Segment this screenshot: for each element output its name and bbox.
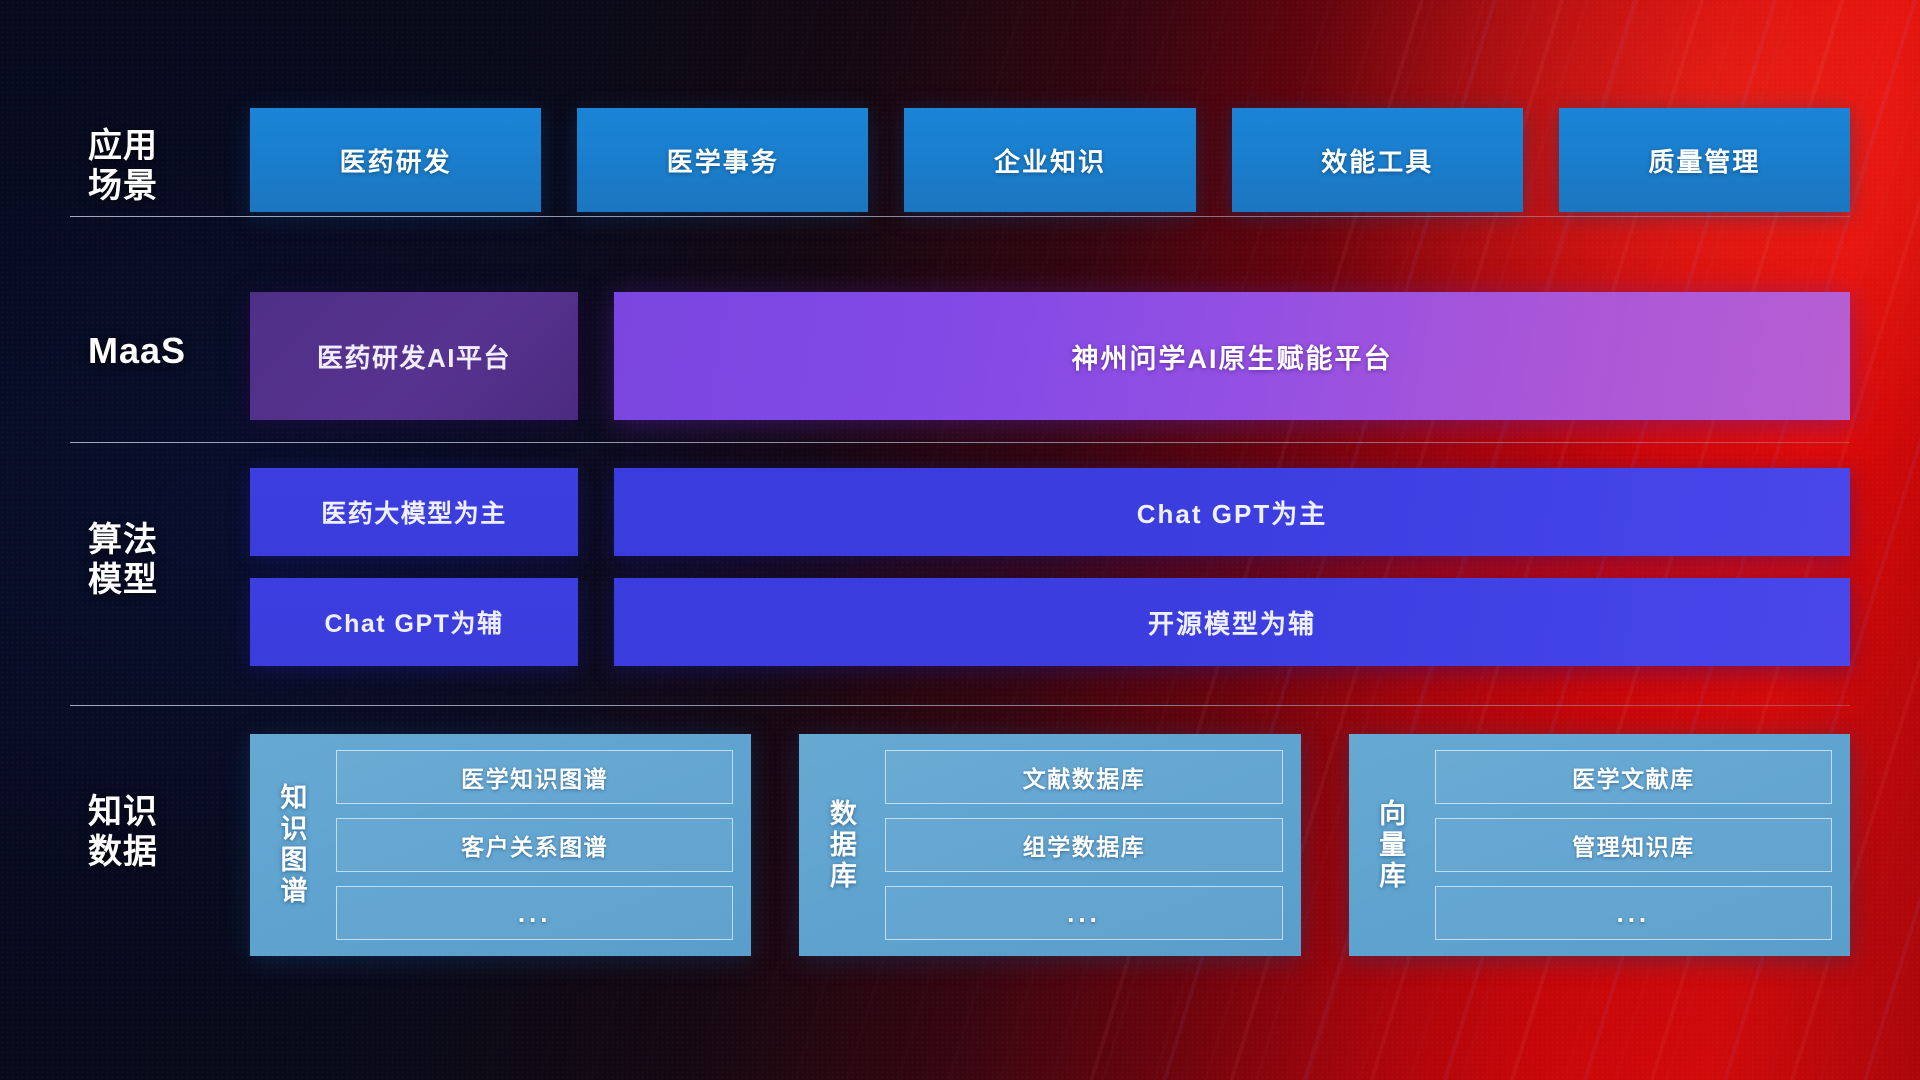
row-label-application-line2: 场景 (88, 166, 238, 206)
knowledge-item-list: 医学文献库 管理知识库 ... (1435, 750, 1832, 940)
algo-card-chatgpt-primary[interactable]: Chat GPT为主 (614, 468, 1850, 556)
divider-application-maas (70, 216, 1850, 217)
knowledge-item-label: 客户关系图谱 (461, 828, 608, 862)
row-label-application: 应用 场景 (88, 126, 238, 206)
knowledge-group-database[interactable]: 数据库 文献数据库 组学数据库 ... (799, 734, 1300, 956)
maas-card-label: 医药研发AI平台 (317, 338, 511, 375)
algorithm-card-track: 医药大模型为主 Chat GPT为主 Chat GPT为辅 开源模型为辅 (250, 468, 1850, 666)
app-card-enterprise-knowledge[interactable]: 企业知识 (904, 108, 1195, 212)
divider-algorithm-knowledge (70, 705, 1850, 706)
app-card-label: 质量管理 (1648, 142, 1760, 179)
knowledge-item-list: 文献数据库 组学数据库 ... (885, 750, 1282, 940)
maas-card-label: 神州问学AI原生赋能平台 (1072, 337, 1393, 376)
row-label-maas: MaaS (88, 330, 238, 372)
knowledge-group-vector-store[interactable]: 向量库 医学文献库 管理知识库 ... (1349, 734, 1850, 956)
app-card-medical-affairs[interactable]: 医学事务 (577, 108, 868, 212)
knowledge-item-medical-literature-store[interactable]: 医学文献库 (1435, 750, 1832, 804)
algo-card-label: Chat GPT为主 (1137, 494, 1327, 531)
knowledge-group-vertical-label: 向量库 (1363, 750, 1417, 940)
app-card-label: 企业知识 (994, 142, 1106, 179)
knowledge-item-omics-database[interactable]: 组学数据库 (885, 818, 1282, 872)
row-label-knowledge-line2: 数据 (88, 832, 238, 872)
knowledge-item-management-knowledge-store[interactable]: 管理知识库 (1435, 818, 1832, 872)
app-card-label: 效能工具 (1321, 142, 1433, 179)
knowledge-item-list: 医学知识图谱 客户关系图谱 ... (336, 750, 733, 940)
app-card-label: 医学事务 (667, 142, 779, 179)
app-card-medicine-rd[interactable]: 医药研发 (250, 108, 541, 212)
knowledge-item-more[interactable]: ... (885, 886, 1282, 940)
knowledge-item-medical-knowledge-graph[interactable]: 医学知识图谱 (336, 750, 733, 804)
knowledge-item-more[interactable]: ... (1435, 886, 1832, 940)
app-card-efficiency-tools[interactable]: 效能工具 (1232, 108, 1523, 212)
algo-card-medicine-llm-primary[interactable]: 医药大模型为主 (250, 468, 578, 556)
row-label-knowledge-line1: 知识 (88, 792, 238, 832)
knowledge-item-label: 医学知识图谱 (461, 760, 608, 794)
algo-card-label: 开源模型为辅 (1148, 604, 1316, 641)
app-card-label: 医药研发 (340, 142, 452, 179)
row-label-algorithm-line2: 模型 (88, 560, 238, 600)
row-label-knowledge: 知识 数据 (88, 792, 238, 872)
knowledge-item-customer-relation-graph[interactable]: 客户关系图谱 (336, 818, 733, 872)
row-label-application-line1: 应用 (88, 126, 238, 166)
knowledge-item-label: 管理知识库 (1572, 828, 1695, 862)
knowledge-item-label: ... (518, 898, 552, 929)
row-label-algorithm-line1: 算法 (88, 520, 238, 560)
algo-card-label: Chat GPT为辅 (325, 604, 504, 640)
architecture-diagram: 应用 场景 医药研发 医学事务 企业知识 效能工具 质量管理 MaaS (0, 0, 1920, 1080)
knowledge-group-vertical-label: 数据库 (813, 750, 867, 940)
maas-card-shenzhou-wenxue-platform[interactable]: 神州问学AI原生赋能平台 (614, 292, 1850, 420)
maas-card-medicine-ai-platform[interactable]: 医药研发AI平台 (250, 292, 578, 420)
application-card-track: 医药研发 医学事务 企业知识 效能工具 质量管理 (250, 108, 1850, 212)
algorithm-line-secondary: Chat GPT为辅 开源模型为辅 (250, 578, 1850, 666)
knowledge-item-literature-database[interactable]: 文献数据库 (885, 750, 1282, 804)
maas-card-track: 医药研发AI平台 神州问学AI原生赋能平台 (250, 292, 1850, 420)
algo-card-opensource-secondary[interactable]: 开源模型为辅 (614, 578, 1850, 666)
algo-card-chatgpt-secondary[interactable]: Chat GPT为辅 (250, 578, 578, 666)
knowledge-group-track: 知识图谱 医学知识图谱 客户关系图谱 ... 数据库 (250, 734, 1850, 956)
knowledge-item-label: ... (1616, 898, 1650, 929)
algo-card-label: 医药大模型为主 (321, 494, 507, 530)
divider-maas-algorithm (70, 442, 1850, 443)
knowledge-item-label: ... (1067, 898, 1101, 929)
knowledge-item-label: 组学数据库 (1023, 828, 1146, 862)
knowledge-item-label: 医学文献库 (1572, 760, 1695, 794)
knowledge-item-label: 文献数据库 (1023, 760, 1146, 794)
row-label-algorithm: 算法 模型 (88, 520, 238, 600)
algorithm-line-primary: 医药大模型为主 Chat GPT为主 (250, 468, 1850, 556)
app-card-quality-management[interactable]: 质量管理 (1559, 108, 1850, 212)
knowledge-group-knowledge-graph[interactable]: 知识图谱 医学知识图谱 客户关系图谱 ... (250, 734, 751, 956)
knowledge-item-more[interactable]: ... (336, 886, 733, 940)
knowledge-group-vertical-label: 知识图谱 (264, 750, 318, 940)
